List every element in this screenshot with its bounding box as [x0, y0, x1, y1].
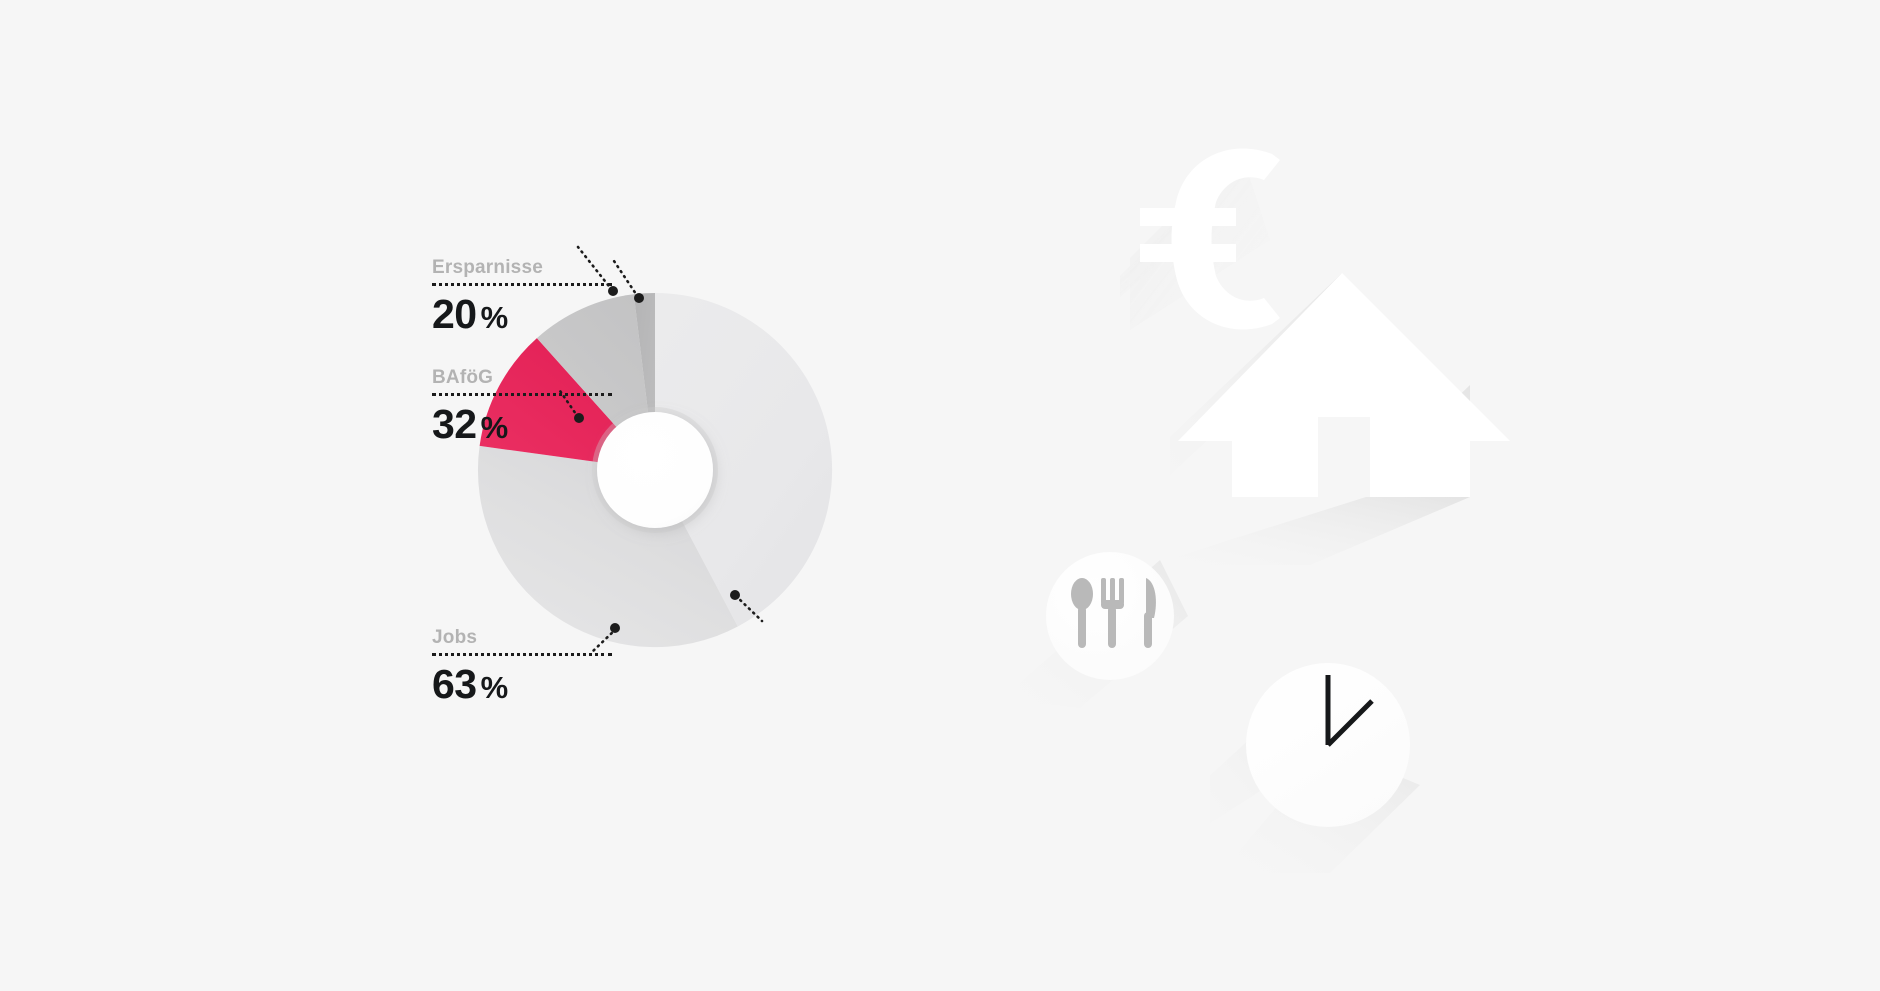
icon-cluster — [1000, 0, 1880, 991]
donut-center-hub — [597, 412, 713, 528]
callout-value-jobs: 63% — [432, 664, 612, 705]
callout-label-bafoeg: BAföG — [432, 368, 612, 393]
callout-rule-jobs — [432, 653, 612, 656]
donut-chart: Ersparnisse 20% BAföG 32% Jobs 63% Stipe… — [0, 0, 1000, 991]
callout-number-bafoeg: 32 — [432, 401, 477, 447]
callout-value-bafoeg: 32% — [432, 404, 612, 445]
callout-ersparnisse[interactable]: Ersparnisse 20% — [432, 258, 612, 335]
callout-rule-ersparnisse — [432, 283, 612, 286]
infographic-canvas: Ersparnisse 20% BAföG 32% Jobs 63% Stipe… — [0, 0, 1880, 991]
callout-unit-ersparnisse: % — [481, 300, 509, 335]
callout-number-ersparnisse: 20 — [432, 291, 477, 337]
callout-label-ersparnisse: Ersparnisse — [432, 258, 612, 283]
callout-label-jobs: Jobs — [432, 628, 612, 653]
callout-rule-bafoeg — [432, 393, 612, 396]
callout-jobs[interactable]: Jobs 63% — [432, 628, 612, 705]
callout-bafoeg[interactable]: BAföG 32% — [432, 368, 612, 445]
callout-unit-jobs: % — [481, 670, 509, 705]
callout-value-ersparnisse: 20% — [432, 294, 612, 335]
callout-number-jobs: 63 — [432, 661, 477, 707]
clock-icon — [1210, 635, 1480, 895]
callout-unit-bafoeg: % — [481, 410, 509, 445]
